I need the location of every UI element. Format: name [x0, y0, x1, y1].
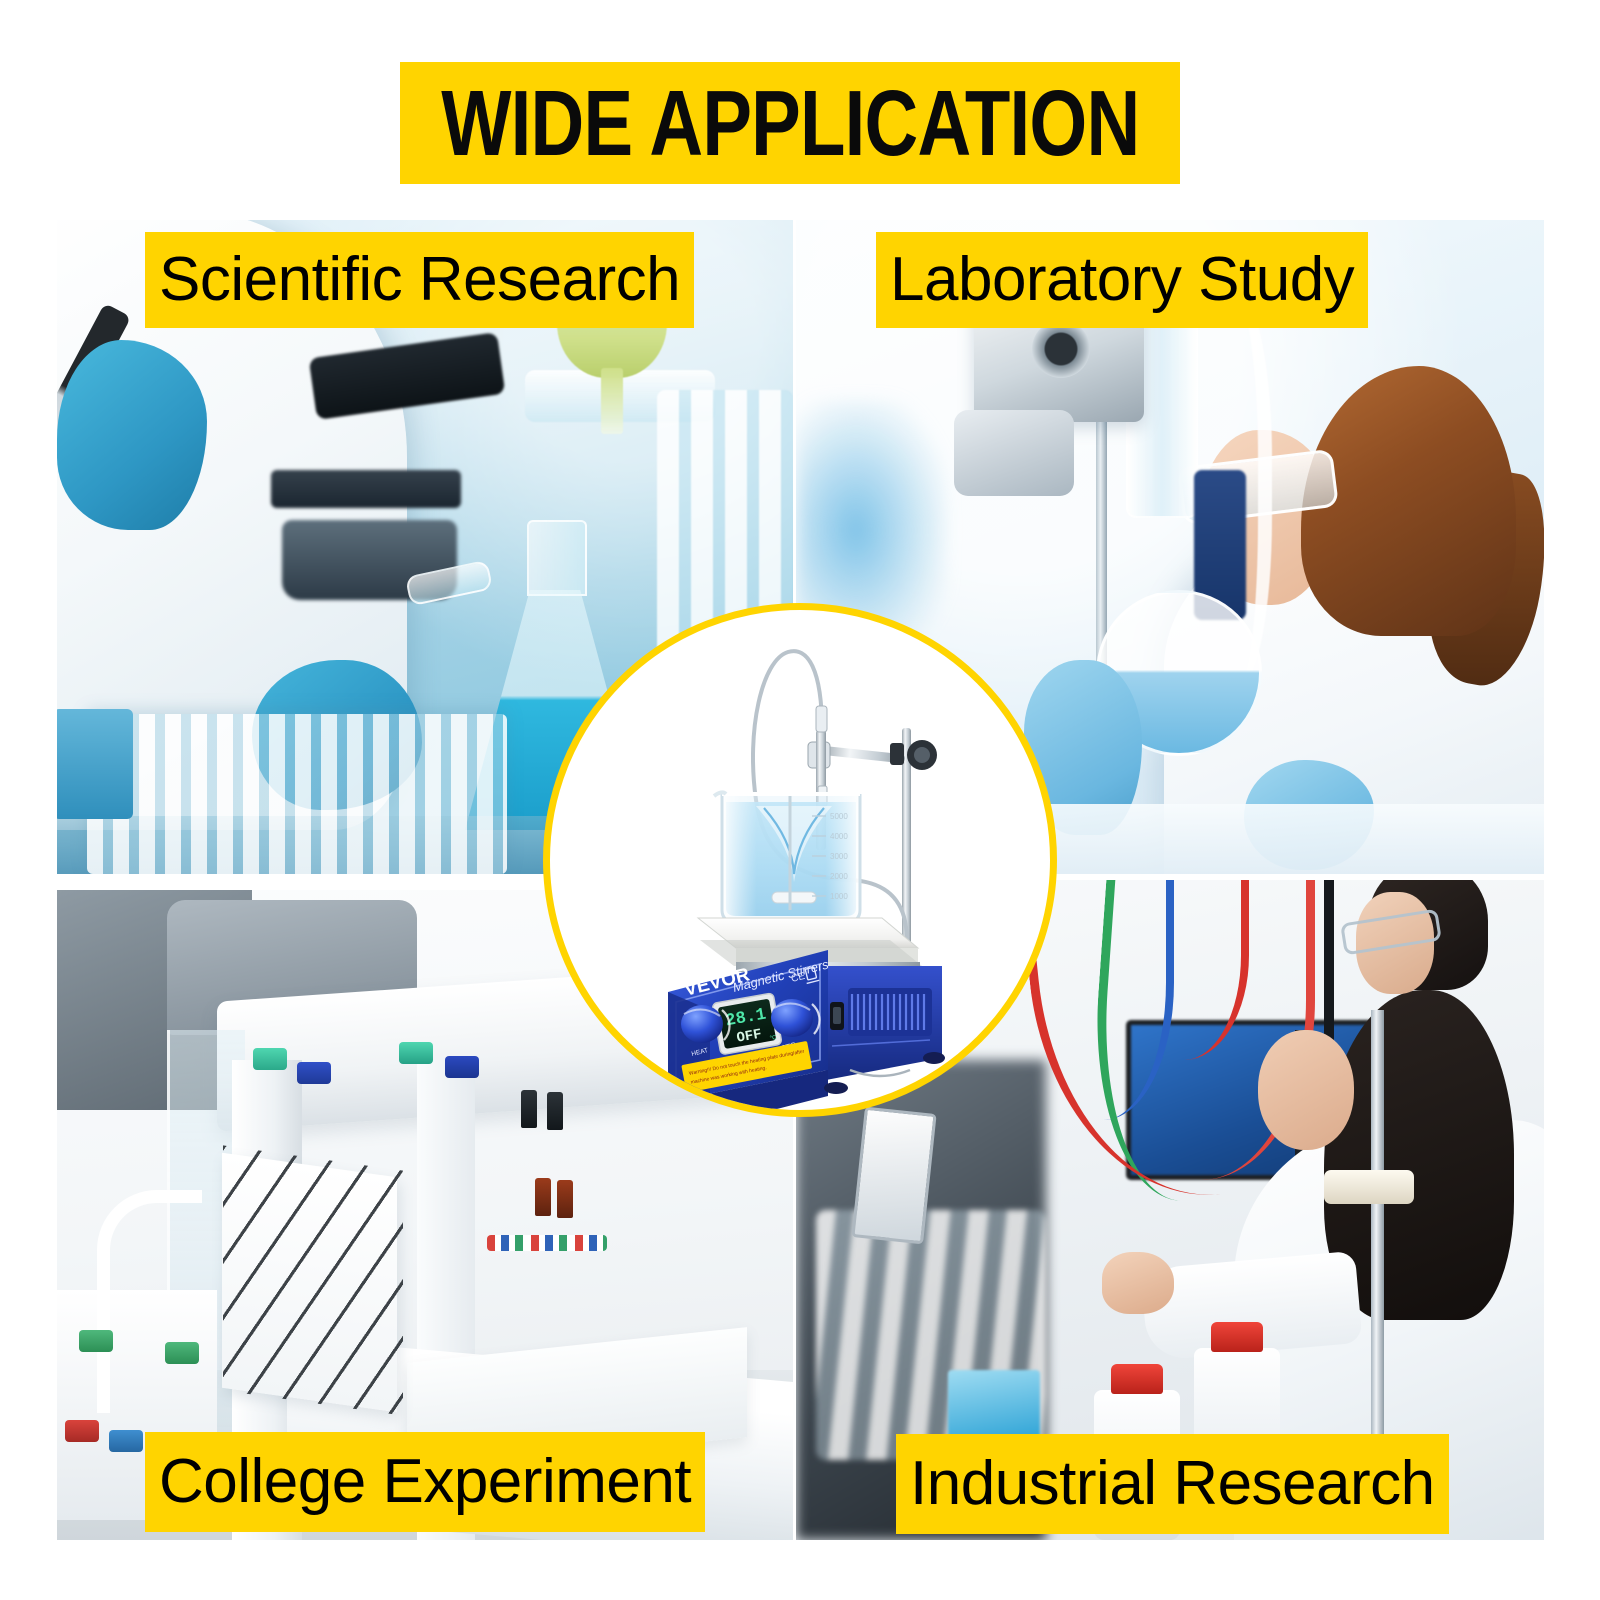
service-tap-teal-2 [399, 1042, 433, 1064]
label-text-scientific-research: Scientific Research [159, 249, 680, 311]
tube-tray [87, 714, 507, 874]
amber-bottle-1 [535, 1178, 551, 1216]
gas-tap-green-2 [165, 1342, 199, 1364]
magnetic-stirrer-illustration: 5000 4000 3000 2000 1000 [550, 610, 1050, 1110]
stand-pole [1371, 1010, 1384, 1480]
gas-tap-blue [109, 1430, 143, 1452]
blue-rack [57, 709, 133, 819]
svg-text:5000: 5000 [830, 812, 848, 821]
label-text-industrial-research: Industrial Research [910, 1453, 1435, 1515]
label-text-laboratory-study: Laboratory Study [890, 249, 1354, 311]
service-tap-blue-1 [297, 1062, 331, 1084]
service-tap-blue-2 [445, 1056, 479, 1078]
label-chip-college-experiment: College Experiment [145, 1432, 705, 1532]
tablet-screen [851, 1107, 936, 1245]
product-highlight-circle[interactable]: 5000 4000 3000 2000 1000 [543, 603, 1057, 1117]
flask-neck [527, 520, 587, 596]
svg-text:3000: 3000 [830, 852, 848, 861]
gloved-hand-upper [57, 340, 207, 530]
svg-text:4000: 4000 [830, 832, 848, 841]
valve-manifold [487, 1235, 607, 1251]
svg-text:1000: 1000 [830, 892, 848, 901]
optics-block [954, 410, 1074, 496]
label-chip-industrial-research: Industrial Research [896, 1434, 1449, 1534]
stirrer-body: VEVOR Magnetic Stirrers CE 28.1 OFF °C H… [668, 950, 945, 1110]
gas-tap-green-1 [79, 1330, 113, 1352]
researcher-face [1258, 1030, 1354, 1150]
page-title-banner: WIDE APPLICATION [400, 62, 1180, 184]
microscope-stage [271, 470, 461, 508]
gas-tap-red [65, 1420, 99, 1442]
page-title: WIDE APPLICATION [441, 77, 1139, 170]
drying-rack-pegs [223, 1145, 403, 1415]
label-text-college-experiment: College Experiment [159, 1451, 691, 1513]
beaker: 5000 4000 3000 2000 1000 [714, 792, 860, 922]
researcher-hand [1102, 1252, 1174, 1314]
service-tap-teal-1 [253, 1048, 287, 1070]
label-chip-laboratory-study: Laboratory Study [876, 232, 1368, 328]
dark-bottle-1 [521, 1090, 537, 1128]
label-chip-scientific-research: Scientific Research [145, 232, 694, 328]
tape-roll-clamp [1324, 1170, 1414, 1204]
amber-bottle-2 [557, 1180, 573, 1218]
gooseneck-faucet [97, 1190, 202, 1413]
svg-text:2000: 2000 [830, 872, 848, 881]
